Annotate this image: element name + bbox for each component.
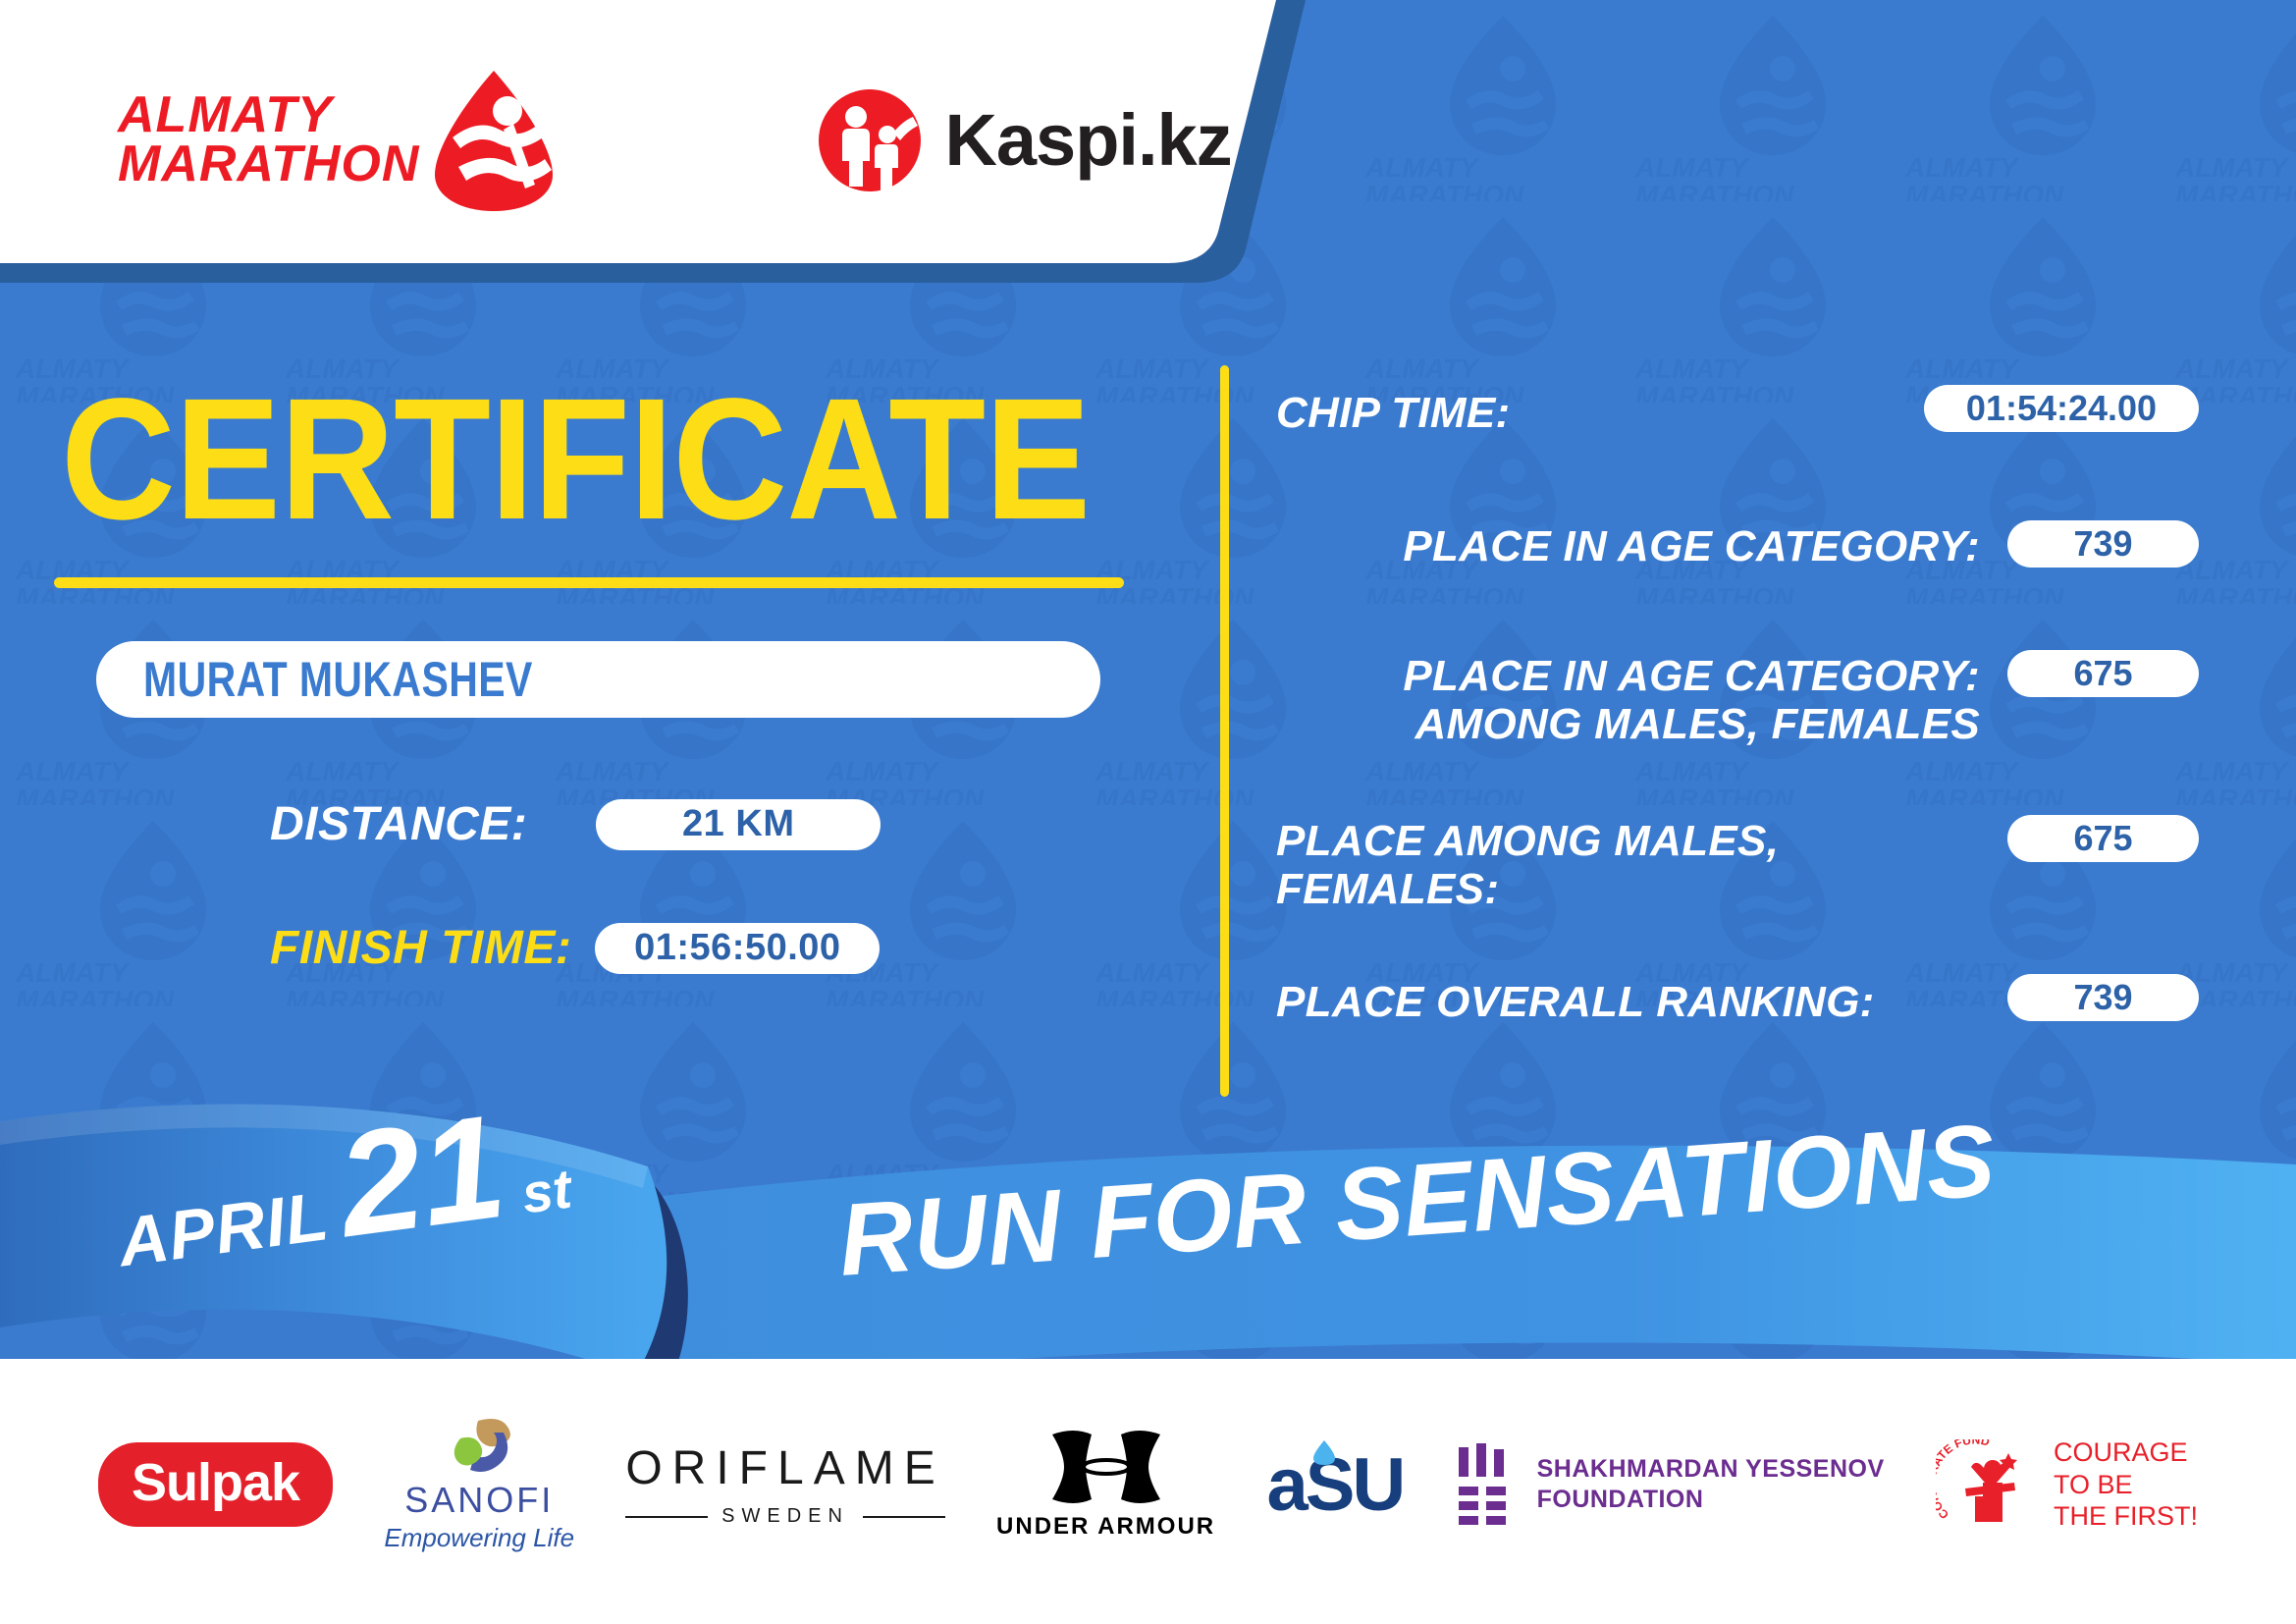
distance-label: DISTANCE: [270,797,527,851]
chip-time-label: CHIP TIME: [1276,385,1924,437]
chip-time-row: CHIP TIME: 01:54:24.00 [1276,385,2199,437]
place-age-category-value: 739 [2007,520,2199,568]
results-panel: CHIP TIME: 01:54:24.00 PLACE IN AGE CATE… [1276,365,2199,1111]
sanofi-swirl-icon [443,1417,515,1478]
page-title: CERTIFICATE [61,373,1090,546]
sponsor-under-armour: UNDER ARMOUR [996,1429,1215,1541]
oriflame-rule-right [863,1516,945,1518]
participant-name: MURAT MUKASHEV [143,651,533,708]
vertical-divider [1220,365,1229,1097]
place-among-gender-row: PLACE AMONG MALES, FEMALES: 675 [1276,815,2199,914]
kaspi-people-icon [817,87,923,193]
event-date-day: 21 [333,1107,510,1245]
certificate-page: ALMATY MARATHON ALMATY MARATHON [0,0,2296,1624]
place-age-category-gender-row: PLACE IN AGE CATEGORY: AMONG MALES, FEMA… [1276,650,2199,749]
chip-time-value: 01:54:24.00 [1924,385,2199,432]
runner-drop-icon [431,67,557,214]
header-logos: ALMATY MARATHON Kaspi.kz [0,0,1178,280]
place-age-category-gender-label: PLACE IN AGE CATEGORY: AMONG MALES, FEMA… [1276,650,2007,749]
participant-name-field: MURAT MUKASHEV [96,641,1100,718]
sponsor-sanofi: SANOFI Empowering Life [384,1417,574,1553]
sponsor-courage-fund: CORPORATE FUND COURAGE TO BE THE FIRST! [1936,1436,2198,1532]
sponsors-footer: Sulpak SANOFI Empowering Life ORIFLAME S… [0,1359,2296,1624]
kaspi-wordmark: Kaspi.kz [944,98,1231,182]
place-overall-ranking-row: PLACE OVERALL RANKING: 739 [1276,974,2199,1026]
asu-droplet-icon [1311,1438,1337,1468]
sponsor-sulpak: Sulpak [98,1442,333,1527]
almaty-marathon-line2: MARATHON [118,140,419,189]
distance-row: DISTANCE: 21 KM [270,797,881,851]
sponsor-asu: aSU [1266,1442,1403,1528]
under-armour-icon [1048,1429,1164,1505]
place-among-gender-value: 675 [2007,815,2199,862]
place-among-gender-label: PLACE AMONG MALES, FEMALES: [1276,815,2007,914]
oriflame-tagline: SWEDEN [721,1505,849,1528]
almaty-marathon-logo: ALMATY MARATHON [118,67,557,214]
sponsor-yessenov-foundation: SHAKHMARDAN YESSENOV FOUNDATION [1455,1443,1885,1526]
distance-value: 21 KM [596,799,881,850]
place-age-category-gender-value: 675 [2007,650,2199,697]
almaty-marathon-line1: ALMATY [118,91,419,140]
sponsor-oriflame: ORIFLAME SWEDEN [625,1441,944,1528]
courage-runner-icon: CORPORATE FUND [1936,1439,2040,1530]
sulpak-wordmark: Sulpak [98,1442,333,1527]
place-overall-ranking-value: 739 [2007,974,2199,1021]
title-underline [54,577,1124,588]
finish-time-value: 01:56:50.00 [595,923,880,974]
yessenov-mark-icon [1455,1443,1516,1526]
event-date-suffix: st [518,1157,575,1226]
yessenov-wordmark: SHAKHMARDAN YESSENOV FOUNDATION [1537,1454,1885,1516]
under-armour-wordmark: UNDER ARMOUR [996,1513,1215,1541]
asu-wordmark: aSU [1266,1442,1403,1528]
oriflame-wordmark: ORIFLAME [625,1441,944,1495]
almaty-marathon-wordmark: ALMATY MARATHON [118,91,419,189]
place-age-category-label: PLACE IN AGE CATEGORY: [1276,520,2007,570]
finish-time-label: FINISH TIME: [270,921,571,975]
oriflame-rule-left [625,1516,708,1518]
kaspi-logo: Kaspi.kz [817,87,1231,193]
courage-wordmark: COURAGE TO BE THE FIRST! [2054,1436,2198,1532]
place-age-category-row: PLACE IN AGE CATEGORY: 739 [1276,520,2199,570]
place-overall-ranking-label: PLACE OVERALL RANKING: [1276,974,2007,1026]
finish-time-row: FINISH TIME: 01:56:50.00 [270,921,880,975]
sanofi-wordmark: SANOFI [404,1480,554,1521]
sanofi-tagline: Empowering Life [384,1523,574,1553]
